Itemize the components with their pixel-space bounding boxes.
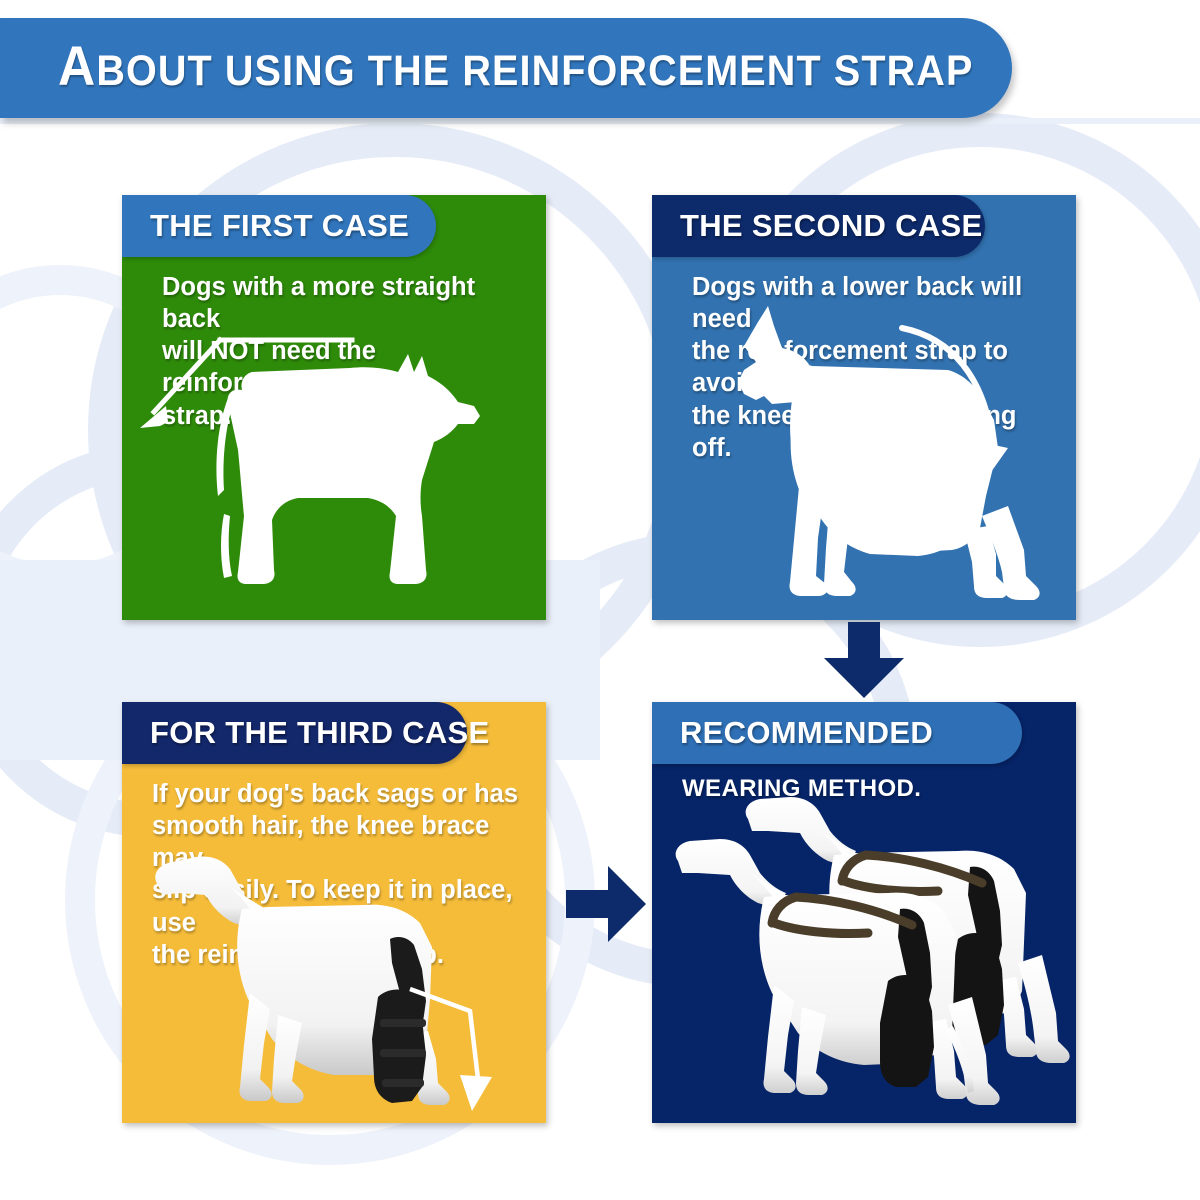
- ribbon-label-third-case: FOR THE THIRD CASE: [150, 715, 490, 751]
- ribbon-recommended: RECOMMENDED: [652, 702, 1022, 764]
- page-title: About using the reinforcement strap: [58, 41, 973, 96]
- page-title-dropcap: A: [58, 41, 96, 91]
- illustration-dog-sloping-back: [652, 300, 1076, 620]
- ribbon-label-first-case: THE FIRST CASE: [150, 208, 409, 244]
- ribbon-second-case: THE SECOND CASE: [652, 195, 985, 257]
- ribbon-third-case: FOR THE THIRD CASE: [122, 702, 467, 764]
- card-third-case: FOR THE THIRD CASE If your dog's back sa…: [122, 702, 546, 1123]
- ribbon-label-recommended: RECOMMENDED: [680, 715, 933, 751]
- card-first-case: THE FIRST CASE Dogs with a more straight…: [122, 195, 546, 620]
- ribbon-label-second-case: THE SECOND CASE: [680, 208, 982, 244]
- page-header-banner: About using the reinforcement strap: [0, 18, 1012, 118]
- illustration-dog-slipping-brace: [122, 843, 546, 1123]
- illustration-two-dogs-with-strap: [652, 793, 1076, 1123]
- arrow-down-icon: [818, 622, 910, 698]
- arrow-right-icon: [566, 862, 650, 946]
- illustration-dog-straight-back: [122, 320, 546, 620]
- page-title-rest: bout using the reinforcement strap: [96, 47, 973, 96]
- card-recommended: RECOMMENDED WEARING METHOD.: [652, 702, 1076, 1123]
- ribbon-first-case: THE FIRST CASE: [122, 195, 436, 257]
- card-second-case: THE SECOND CASE Dogs with a lower back w…: [652, 195, 1076, 620]
